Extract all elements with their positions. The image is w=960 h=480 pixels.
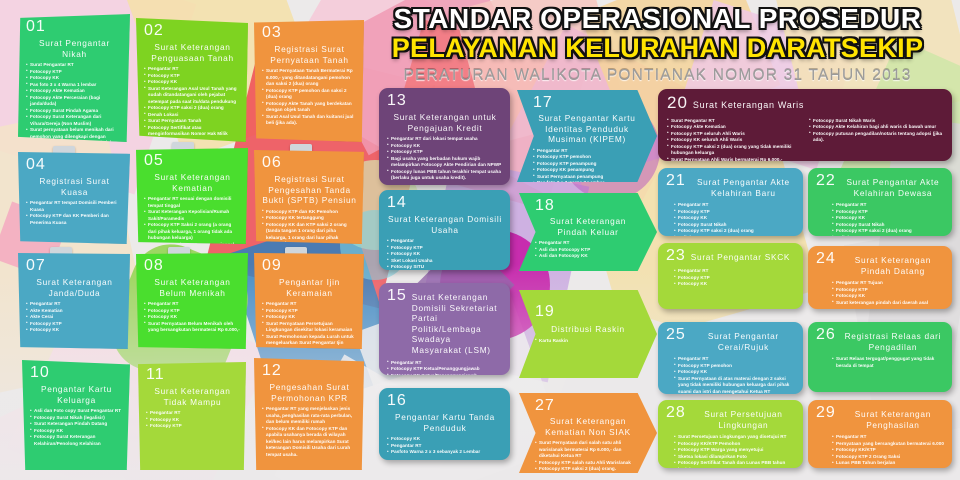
card-requirements-list: Surat Pengantar RT Fotocopy KTP Fotocopy…	[26, 62, 123, 142]
card-number: 05	[144, 153, 241, 169]
card-number: 07	[26, 258, 123, 274]
list-item: Fotocopy KK dan Fotocopy KTP dan apabila…	[262, 426, 357, 459]
card-number: 21	[666, 173, 686, 189]
card-title: Surat Keterangan Belum Menikah	[144, 277, 241, 298]
sop-card-12[interactable]: 12 Pengesahan Surat Permohonan KPR Penga…	[254, 358, 364, 470]
card-requirements-list: Surat Pernyataan dari salah satu ahli wa…	[535, 440, 641, 473]
sop-card-11[interactable]: 11 Surat Keterangan Tidak Mampu Penganta…	[138, 362, 246, 470]
list-item: Surat keterangan pindah dari daerah asal	[832, 300, 945, 307]
sop-card-04[interactable]: 04 Registrasi Surat Kuasa Pengantar RT t…	[18, 152, 130, 244]
list-item: Pas foto 2 x 3 warna 3 Lembar	[533, 180, 641, 182]
list-item: Fotocopy KTP saksi 2 (dua) orang yang ti…	[667, 144, 801, 157]
card-requirements-list: Pengantar RT Tujuan Fotocopy KTP Fotocop…	[816, 280, 945, 306]
card-number: 04	[26, 157, 123, 173]
list-item: Fotocopy Surat Keterangan dari Vihara/Ge…	[26, 114, 123, 127]
card-requirements-list: Pengantar RT Fotocopy KTP pemohon Fotoco…	[666, 356, 796, 394]
list-item: Surat Pernyataan Persetujuan Lingkungan …	[262, 321, 357, 334]
list-item: Lunas PBB Tahun berjalan	[832, 460, 945, 467]
sop-card-10[interactable]: 10 Pengantar Kartu Keluarga Asli dan Fot…	[22, 360, 130, 470]
list-item: Fotocopy KTP dan KK Pemberi dan Penerima…	[26, 213, 123, 226]
sop-card-16[interactable]: 16 Pengantar Kartu Tanda Penduduk Fotoco…	[379, 388, 510, 460]
card-number: 13	[387, 93, 503, 109]
header-subtitle-regulation: PERATURAN WALIKOTA PONTIANAK NOMOR 31 TA…	[355, 67, 960, 85]
sop-card-22[interactable]: 22 Surat Pengantar Akte Kelahiran Dewasa…	[808, 168, 952, 236]
card-requirements-list: Pengantar RT tempat Domisili Pemberi Kua…	[26, 200, 123, 226]
card-requirements-list: Pengantar RT Fotocopy KTP Fotocopy KK Su…	[262, 301, 357, 349]
list-item: Fotocopy KK dan KTP saksi 2 orang (tanda…	[262, 222, 357, 244]
list-item: Fotocopy KTP saksi 2 (dua) orang.	[535, 466, 641, 473]
card-requirements-list: Pengantar RT Fotocopy KTP Fotocopy KK	[666, 268, 796, 288]
header-title-line1: STANDAR OPERASIONAL PROSEDUR	[355, 4, 960, 33]
list-item: Surat Permohonan kepada Lurah untuk meng…	[262, 334, 357, 349]
card-number: 18	[535, 198, 641, 214]
card-title: Surat Keterangan Tidak Mampu	[146, 386, 239, 407]
sop-card-07[interactable]: 07 Surat Keterangan Janda/Duda Pengantar…	[18, 253, 130, 349]
list-item: Fotocopy KTP pemohon dan saksi 2 (dua) o…	[262, 88, 357, 101]
card-title: Surat Keterangan Domisili Sekretariat Pa…	[412, 292, 503, 356]
list-item: Asli dan Surat Pernyataan Dewasa	[832, 235, 945, 236]
card-number: 27	[535, 398, 641, 414]
list-item: Surat Pernyataan Ahli Waris bermaterai R…	[667, 157, 801, 161]
card-title: Surat Pengantar SKCK	[691, 252, 796, 263]
list-item: Fotocopy KK Ketua/Penanggungjawab	[387, 373, 503, 375]
list-item: Pengantar RT tempat Domisili Pemberi Kua…	[26, 200, 123, 213]
card-number: 28	[666, 405, 686, 421]
sop-card-08[interactable]: 08 Surat Keterangan Belum Menikah Pengan…	[136, 253, 248, 349]
card-number: 29	[816, 405, 836, 421]
sop-card-05[interactable]: 05 Surat Keterangan Kematian Pengantar R…	[136, 148, 248, 244]
list-item: Surat Pernyataan Belum Menikah oleh yang…	[144, 321, 241, 334]
card-number: 24	[816, 251, 836, 267]
card-number: 03	[262, 25, 357, 41]
sop-card-13[interactable]: 13 Surat Keterangan untuk Pengajuan Kred…	[379, 88, 510, 185]
card-requirements-list: Surat Pernyataan Tanah Bermaterai Rp 6.0…	[262, 68, 357, 127]
list-item: Fotocopy Surat Keterangan Kelahiran/Peno…	[30, 434, 123, 447]
card-number: 17	[533, 95, 641, 111]
list-item: Fotocopy KK	[674, 281, 796, 288]
sop-card-28[interactable]: 28 Surat Persetujuan Lingkungan Surat Pe…	[658, 400, 803, 468]
card-title: Surat Keterangan Pindah Keluar	[535, 216, 641, 237]
card-number: 10	[30, 365, 123, 381]
card-title: Surat Keterangan Penghasilan	[841, 409, 945, 430]
list-item: Fotocopy Akte Perceraian (bagi janda/dud…	[26, 95, 123, 108]
card-title: Pengantar Kartu Keluarga	[30, 384, 123, 405]
poster-header: STANDAR OPERASIONAL PROSEDUR PELAYANAN K…	[355, 0, 960, 92]
list-item: Surat Pernyataan di atas materai dengan …	[674, 376, 796, 394]
list-item: Surat Relaas tergugat/penggugat yang tid…	[832, 356, 945, 369]
card-requirements-list: Pengantar RT Fotocopy KTP pemohon Fotoco…	[533, 148, 641, 182]
card-title: Distribusi Raskin	[535, 324, 641, 335]
card-requirements-list: Pengantar RT Fotocopy KTP Fotocopy KK Fo…	[666, 202, 796, 236]
card-title: Surat Pengantar Akte Kelahiran Dewasa	[841, 177, 945, 198]
card-number: 22	[816, 173, 836, 189]
card-title: Surat Keterangan Domisili Usaha	[387, 214, 503, 235]
card-requirements-list: Pengantar RT dari lokasi tempat usaha Fo…	[387, 136, 503, 182]
card-title: Surat Keterangan Kematian Non SIAK	[535, 416, 641, 437]
list-item: Fotocopy Sertifikat Tanah dan Lunas PBB …	[674, 460, 796, 468]
card-title: Surat Pengantar Kartu Identitas Penduduk…	[533, 113, 641, 145]
sop-card-06[interactable]: 06 Registrasi Surat Pengesahan Tanda Buk…	[254, 150, 364, 244]
card-number: 19	[535, 304, 641, 320]
card-requirements-list: Fotocopy KTP dan KK Pemohon Fotocopy KK …	[262, 209, 357, 244]
card-title: Registrasi Relaas dari Pengadilan	[841, 331, 945, 352]
card-number: 01	[26, 19, 123, 35]
card-requirements-list: Pengantar RT Fotocopy KTP Fotocopy KK Su…	[144, 66, 241, 142]
card-number: 12	[262, 363, 357, 379]
card-title: Pengesahan Surat Permohonan KPR	[262, 382, 357, 403]
sop-card-19[interactable]: 19 Distribusi Raskin Kartu Raskin	[519, 290, 657, 378]
card-number: 02	[144, 23, 241, 39]
list-item: Fotocopy lunas PBB tahun terakhir tempat…	[387, 169, 503, 182]
list-item: Pengantar RT sesuai dengan domisili temp…	[144, 196, 241, 209]
card-requirements-list: Pengantar RT Fotocopy KTP Fotocopy KK Fo…	[816, 202, 945, 236]
card-title: Surat Keterangan untuk Pengajuan Kredit	[387, 112, 503, 133]
sop-card-20[interactable]: 20 Surat Keterangan Waris Surat Penganta…	[658, 89, 952, 161]
sop-card-27[interactable]: 27 Surat Keterangan Kematian Non SIAK Su…	[519, 393, 657, 473]
card-title: Surat Pengantar Nikah	[26, 38, 123, 59]
sop-card-03[interactable]: 03 Registrasi Surat Pernyataan Tanah Sur…	[254, 20, 364, 142]
card-number: 15	[387, 288, 407, 304]
sop-card-25[interactable]: 25 Surat Pengantar Cerai/Rujuk Pengantar…	[658, 322, 803, 394]
list-item: Asli dan Fotocopy Surat Keterangan Kelah…	[674, 235, 796, 236]
list-item: Surat Pernyataan Tanah Bermaterai Rp 6.0…	[262, 68, 357, 88]
card-title: Registrasi Surat Pengesahan Tanda Bukti …	[262, 174, 357, 206]
list-item: Surat Keterangan Kepolisian/Rumah Sakit/…	[144, 209, 241, 222]
sop-card-24[interactable]: 24 Surat Keterangan Pindah Datang Pengan…	[808, 246, 952, 309]
card-requirements-list: Pengantar RT Akte Kematian Akte Cerai Fo…	[26, 301, 123, 334]
sop-card-26[interactable]: 26 Registrasi Relaas dari Pengadilan Sur…	[808, 322, 952, 392]
list-item: Surat Keterangan Asal Usul Tanah yang su…	[144, 86, 241, 106]
list-item: Surat Asal Usul Tanah dan kuitansi jual …	[262, 114, 357, 127]
list-item: Fotocopy putusan pengadilan/notaris tent…	[809, 131, 943, 144]
card-title: Surat Keterangan Penguasaan Tanah	[144, 42, 241, 63]
sop-card-15[interactable]: 15 Surat Keterangan Domisili Sekretariat…	[379, 283, 510, 375]
list-item: Fotocopy KTP Saksi 2 orang (a orang dari…	[144, 222, 241, 242]
card-title: Pengantar Ijin Keramaian	[262, 277, 357, 298]
card-title: Surat Keterangan Janda/Duda	[26, 277, 123, 298]
list-item: Asli dan Fotocopy KK	[535, 253, 641, 260]
card-title: Surat Keterangan Kematian	[144, 172, 241, 193]
card-requirements-list-secondary: Fotocopy Surat Nikah Waris Fotocopy Akte…	[809, 118, 943, 161]
card-number: 16	[387, 393, 503, 409]
list-item: Pengantar RT yang menjelaskan jenis usah…	[262, 406, 357, 426]
list-item: Surat Pernyataan dari salah satu ahli wa…	[535, 440, 641, 460]
card-requirements-list: Pengantar RT yang menjelaskan jenis usah…	[262, 406, 357, 458]
card-title: Registrasi Surat Pernyataan Tanah	[262, 44, 357, 65]
sop-card-14[interactable]: 14 Surat Keterangan Domisili Usaha Penga…	[379, 190, 510, 270]
sop-card-09[interactable]: 09 Pengantar Ijin Keramaian Pengantar RT…	[254, 253, 364, 349]
list-item: Kartu Raskin	[535, 338, 641, 345]
card-title: Pengantar Kartu Tanda Penduduk	[387, 412, 503, 433]
card-requirements-list: Kartu Raskin	[535, 338, 641, 345]
card-number: 11	[146, 367, 239, 383]
card-title: Surat Keterangan Pindah Datang	[841, 255, 945, 276]
sop-card-17[interactable]: 17 Surat Pengantar Kartu Identitas Pendu…	[517, 90, 657, 182]
list-item: Fotocopy KTP	[146, 423, 239, 430]
list-item: Pasfoto Warna 2 x 3 sebanyak 2 Lembar	[387, 449, 503, 456]
card-number: 23	[666, 248, 686, 264]
card-requirements-list: Pengantar RT Asli dan Fotocopy KTP Asli …	[535, 240, 641, 260]
card-requirements-list: Surat Persetujuan Lingkungan yang disetu…	[666, 434, 796, 468]
card-requirements-list: Asli dan Foto copy Surat Pengantar RT Fo…	[30, 408, 123, 447]
sop-card-01[interactable]: 01 Surat Pengantar Nikah Surat Pengantar…	[18, 14, 130, 142]
card-requirements-list: Pengantar RT Fotocopy KK Fotocopy KTP	[146, 410, 239, 430]
sop-card-29[interactable]: 29 Surat Keterangan Penghasilan Penganta…	[808, 400, 952, 468]
card-number: 08	[144, 258, 241, 274]
card-title: Surat Pengantar Akte Kelahiran Baru	[691, 177, 796, 198]
card-number: 06	[262, 155, 357, 171]
card-requirements-list: Pengantar RT Pernyataan yang bersangkuta…	[816, 434, 945, 467]
card-title: Registrasi Surat Kuasa	[26, 176, 123, 197]
header-title-line2: PELAYANAN KELURAHAN DARATSEKIP	[355, 34, 960, 62]
card-number: 20	[667, 94, 688, 111]
card-title: Surat Persetujuan Lingkungan	[691, 409, 796, 430]
card-requirements-list: Pengantar Fotocopy KTP Fotocopy KK Sket …	[387, 238, 503, 270]
list-item: Fotocopy SITU	[387, 264, 503, 270]
list-item: Fotocopy KK	[26, 327, 123, 334]
card-requirements-list: Surat Pengantar RT Fotocopy Akte Kematia…	[667, 118, 801, 161]
card-title: Surat Keterangan Waris	[693, 100, 804, 112]
sop-card-21[interactable]: 21 Surat Pengantar Akte Kelahiran Baru P…	[658, 168, 803, 236]
sop-card-23[interactable]: 23 Surat Pengantar SKCK Pengantar RT Fot…	[658, 243, 803, 309]
list-item: Bagi usaha yang berbadan hukum wajib mel…	[387, 156, 503, 169]
sop-card-18[interactable]: 18 Surat Keterangan Pindah Keluar Pengan…	[519, 193, 657, 271]
card-requirements-list: Surat Relaas tergugat/penggugat yang tid…	[816, 356, 945, 369]
card-title: Surat Pengantar Cerai/Rujuk	[691, 331, 796, 352]
sop-card-02[interactable]: 02 Surat Keterangan Penguasaan Tanah Pen…	[136, 18, 248, 142]
card-number: 26	[816, 327, 836, 343]
card-number: 25	[666, 327, 686, 343]
card-requirements-list: Pengantar RT Fotocopy KTP Fotocopy KK Su…	[144, 301, 241, 334]
list-item: Fotocopy Akte Tanah yang berdekatan deng…	[262, 101, 357, 114]
card-requirements-list: Fotocopy KK Pengantar RT Pasfoto Warna 2…	[387, 436, 503, 456]
card-requirements-list: Pengantar RT sesuai dengan domisili temp…	[144, 196, 241, 244]
card-number: 09	[262, 258, 357, 274]
card-requirements-list: Pengantar RT Fotocopy KTP Ketua/Penanggu…	[387, 360, 503, 375]
card-number: 14	[387, 195, 503, 211]
